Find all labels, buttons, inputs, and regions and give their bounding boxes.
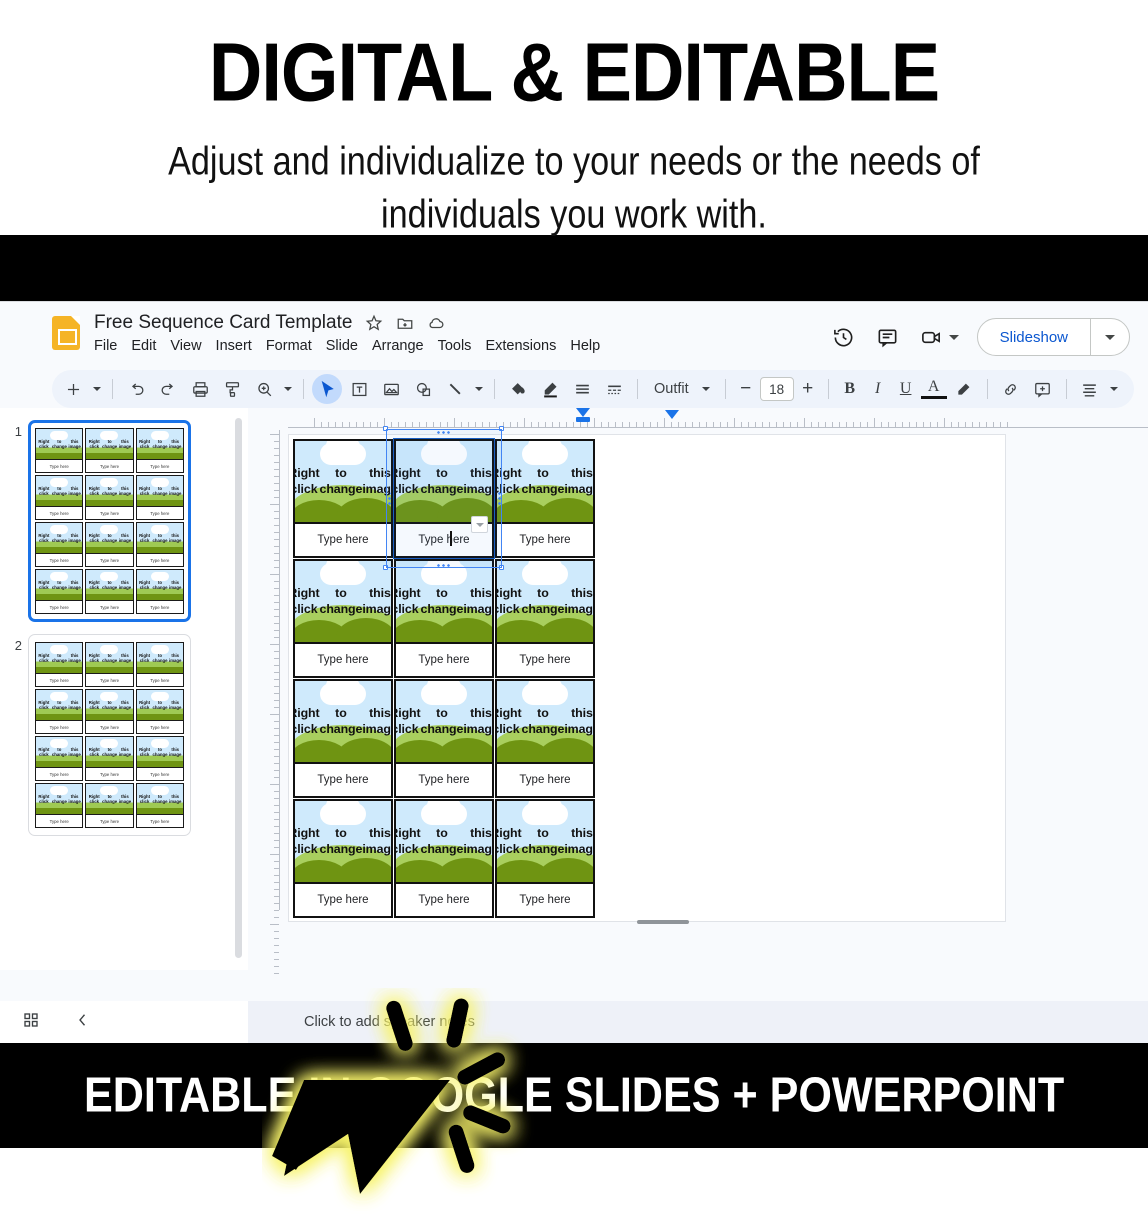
thumbnail-card-image: Right clickto changethis image — [36, 429, 82, 459]
thumbnail-card-text: Right clickto changethis image — [36, 570, 82, 600]
move-to-folder-icon[interactable] — [395, 314, 414, 333]
thumbnail-card: Right clickto changethis imageType here — [136, 642, 184, 687]
selection-handle[interactable] — [383, 426, 388, 431]
thumbnail-card-image: Right clickto changethis image — [86, 737, 132, 767]
card-image-placeholder[interactable]: Right clickto changethis image — [295, 561, 391, 642]
card-image-text: Right clickto changethis image — [295, 561, 391, 642]
thumbnail-card: Right clickto changethis imageType here — [136, 428, 184, 473]
card-image-text: Right clickto changethis image — [396, 681, 492, 762]
thumbnail-card-image: Right clickto changethis image — [36, 737, 82, 767]
thumbnail-card-caption: Type here — [137, 459, 183, 472]
thumbnail-card-caption: Type here — [86, 459, 132, 472]
thumbnail-card-caption: Type here — [137, 673, 183, 686]
italic-button[interactable]: I — [865, 380, 891, 398]
thumbnail-card-text: Right clickto changethis image — [137, 784, 183, 814]
thumbnail-card: Right clickto changethis imageType here — [35, 522, 83, 567]
thumbnail-card-text: Right clickto changethis image — [86, 570, 132, 600]
thumbnail-card-image: Right clickto changethis image — [86, 784, 132, 814]
slideshow-label[interactable]: Slideshow — [978, 329, 1090, 346]
ruler-tick — [734, 418, 735, 427]
promo-title: DIGITAL & EDITABLE — [0, 30, 1148, 115]
thumbnail-card-image: Right clickto changethis image — [36, 784, 82, 814]
card-image-text: Right clickto changethis image — [497, 561, 593, 642]
promo-subtitle-line-1: Adjust and individualize to your needs o… — [86, 135, 1063, 187]
thumbnail-card-caption: Type here — [36, 553, 82, 566]
increase-font-size-button[interactable]: + — [796, 378, 820, 400]
font-size-input[interactable]: 18 — [760, 377, 794, 401]
thumbnail-card-caption: Type here — [86, 814, 132, 827]
thumbnail-card-caption: Type here — [36, 720, 82, 733]
thumbnail-card-image: Right clickto changethis image — [36, 643, 82, 673]
slideshow-button[interactable]: Slideshow — [977, 318, 1130, 356]
card-image-placeholder[interactable]: Right clickto changethis image — [396, 681, 492, 762]
thumbnail-card-text: Right clickto changethis image — [137, 690, 183, 720]
thumbnail-card-text: Right clickto changethis image — [36, 429, 82, 459]
sequence-card[interactable]: Right clickto changethis imageType here — [293, 439, 393, 558]
thumbnail-card: Right clickto changethis imageType here — [35, 736, 83, 781]
thumbnail-card: Right clickto changethis imageType here — [136, 689, 184, 734]
thumbnail-card-image: Right clickto changethis image — [137, 737, 183, 767]
thumbnail-card-image: Right clickto changethis image — [86, 570, 132, 600]
collapse-filmstrip-icon[interactable] — [74, 1011, 92, 1034]
thumbnail-card-text: Right clickto changethis image — [137, 570, 183, 600]
ruler-tick — [274, 938, 279, 939]
thumbnail-card-caption: Type here — [137, 720, 183, 733]
filmstrip-footer — [0, 1001, 248, 1043]
card-image-placeholder[interactable]: Right clickto changethis image — [396, 801, 492, 882]
filmstrip-slide-2[interactable]: 2 Right clickto changethis imageType her… — [8, 634, 248, 836]
slide-thumbnail-1[interactable]: Right clickto changethis imageType hereR… — [28, 420, 191, 622]
app-header: Free Sequence Card Template File Edit Vi… — [0, 302, 1148, 364]
promo-subtitle: Adjust and individualize to your needs o… — [29, 135, 1120, 240]
sequence-card[interactable]: Right clickto changethis imageType here — [293, 799, 393, 918]
card-image-text: Right clickto changethis image — [295, 441, 391, 522]
promo-footer: EDITABLE IN GOOGLE SLIDES + POWERPOINT — [0, 1043, 1148, 1148]
slide-number: 2 — [8, 634, 22, 653]
google-slides-window: Free Sequence Card Template File Edit Vi… — [0, 301, 1148, 1043]
thumbnail-card: Right clickto changethis imageType here — [35, 783, 83, 828]
ruler-tick — [270, 434, 279, 435]
thumbnail-card-image: Right clickto changethis image — [137, 523, 183, 553]
meet-camera-icon[interactable] — [919, 324, 945, 350]
thumbnail-card: Right clickto changethis imageType here — [136, 475, 184, 520]
notes-resize-handle[interactable] — [637, 920, 689, 924]
card-image-text: Right clickto changethis image — [497, 441, 593, 522]
ruler-tick — [270, 854, 279, 855]
thumbnail-card-image: Right clickto changethis image — [137, 643, 183, 673]
thumbnail-card-caption: Type here — [36, 673, 82, 686]
zoom-dropdown-icon[interactable] — [281, 387, 295, 391]
toolbar-divider — [112, 379, 113, 399]
thumbnail-card-caption: Type here — [86, 600, 132, 613]
menu-item-insert[interactable]: Insert — [216, 338, 252, 354]
border-weight-icon[interactable] — [567, 374, 597, 404]
sequence-card[interactable]: Right clickto changethis imageType here — [293, 679, 393, 798]
ruler-tick — [270, 714, 279, 715]
ruler-tick — [274, 945, 279, 946]
thumbnail-card: Right clickto changethis imageType here — [35, 642, 83, 687]
thumbnail-card-text: Right clickto changethis image — [137, 643, 183, 673]
ruler-tick — [594, 418, 595, 427]
star-icon[interactable] — [364, 314, 383, 333]
slide-thumbnail-2[interactable]: Right clickto changethis imageType hereR… — [28, 634, 191, 836]
toolbar-divider — [987, 379, 988, 399]
sequence-card[interactable]: Right clickto changethis imageType here — [394, 439, 494, 558]
toolbar-divider — [303, 379, 304, 399]
thumbnail-card-image: Right clickto changethis image — [36, 523, 82, 553]
thumbnail-card: Right clickto changethis imageType here — [136, 522, 184, 567]
thumbnail-card-image: Right clickto changethis image — [86, 643, 132, 673]
thumbnail-card-text: Right clickto changethis image — [36, 476, 82, 506]
thumbnail-card: Right clickto changethis imageType here — [85, 522, 133, 567]
ruler-tick — [454, 418, 455, 427]
ruler-tick — [274, 931, 279, 932]
ruler-tick — [270, 784, 279, 785]
thumbnail-card-caption: Type here — [137, 814, 183, 827]
thumbnail-card-text: Right clickto changethis image — [36, 523, 82, 553]
thumbnail-card: Right clickto changethis imageType here — [136, 736, 184, 781]
toolbar-divider — [637, 379, 638, 399]
slide-filmstrip[interactable]: 1 Right clickto changethis imageType her… — [0, 408, 248, 970]
card-caption-field[interactable]: Type here — [295, 882, 391, 916]
print-icon[interactable] — [185, 374, 215, 404]
selection-handle[interactable] — [499, 426, 504, 431]
ruler-tick — [804, 418, 805, 427]
thumbnail-card-text: Right clickto changethis image — [86, 523, 132, 553]
thumbnail-card-image: Right clickto changethis image — [137, 476, 183, 506]
ruler-tick — [270, 924, 279, 925]
card-image-placeholder[interactable]: Right clickto changethis image — [497, 801, 593, 882]
thumbnail-card-text: Right clickto changethis image — [86, 690, 132, 720]
thumbnail-card-image: Right clickto changethis image — [86, 429, 132, 459]
comment-history-icon[interactable] — [875, 324, 901, 350]
thumbnail-card-image: Right clickto changethis image — [36, 690, 82, 720]
menu-item-format[interactable]: Format — [266, 338, 312, 354]
thumbnail-card-text: Right clickto changethis image — [36, 784, 82, 814]
thumbnail-card-text: Right clickto changethis image — [137, 737, 183, 767]
card-caption-field[interactable]: Type here — [497, 522, 593, 556]
fill-color-icon[interactable] — [503, 374, 533, 404]
ruler-tick — [274, 959, 279, 960]
thumbnail-card-image: Right clickto changethis image — [137, 690, 183, 720]
line-dropdown-icon[interactable] — [472, 387, 486, 391]
card-image-placeholder[interactable]: Right clickto changethis image — [396, 561, 492, 642]
ruler-tick — [270, 644, 279, 645]
thumbnail-card-text: Right clickto changethis image — [36, 737, 82, 767]
left-indent-marker[interactable] — [665, 410, 679, 419]
insert-image-icon[interactable] — [376, 374, 406, 404]
menu-item-help[interactable]: Help — [570, 338, 600, 354]
toolbar-divider — [725, 379, 726, 399]
toolbar-divider — [494, 379, 495, 399]
card-caption-field[interactable]: Type here — [497, 642, 593, 676]
thumbnail-card-image: Right clickto changethis image — [36, 476, 82, 506]
card-image-placeholder[interactable]: Right clickto changethis image — [295, 441, 391, 522]
filmstrip-slide-1[interactable]: 1 Right clickto changethis imageType her… — [8, 420, 248, 622]
align-icon[interactable] — [1075, 374, 1105, 404]
font-family-select[interactable]: Outfit — [646, 381, 697, 397]
indent-bar[interactable] — [576, 417, 590, 422]
thumbnail-card-text: Right clickto changethis image — [86, 429, 132, 459]
border-dash-icon[interactable] — [599, 374, 629, 404]
card-image-placeholder[interactable]: Right clickto changethis image — [295, 801, 391, 882]
slideshow-dropdown-button[interactable] — [1091, 335, 1129, 340]
thumbnail-card: Right clickto changethis imageType here — [85, 475, 133, 520]
thumbnail-card-image: Right clickto changethis image — [137, 784, 183, 814]
menu-item-edit[interactable]: Edit — [131, 338, 156, 354]
card-caption-field[interactable]: Type here — [396, 762, 492, 796]
thumbnail-card-caption: Type here — [36, 459, 82, 472]
cloud-saved-icon[interactable] — [426, 314, 445, 333]
menu-item-slide[interactable]: Slide — [326, 338, 358, 354]
promo-subtitle-line-2: individuals you work with. — [86, 188, 1063, 240]
line-icon[interactable] — [440, 374, 470, 404]
thumbnail-card-text: Right clickto changethis image — [137, 429, 183, 459]
thumbnail-card-image: Right clickto changethis image — [137, 570, 183, 600]
thumbnail-card-caption: Type here — [36, 814, 82, 827]
new-slide-dropdown-icon[interactable] — [90, 387, 104, 391]
thumbnail-card: Right clickto changethis imageType here — [85, 736, 133, 781]
thumbnail-card: Right clickto changethis imageType here — [136, 569, 184, 614]
thumbnail-card-grid: Right clickto changethis imageType hereR… — [35, 428, 184, 614]
card-image-placeholder[interactable]: Right clickto changethis image — [396, 441, 492, 522]
divider-band-top — [0, 235, 1148, 301]
select-cursor-icon[interactable] — [312, 374, 342, 404]
thumbnail-card: Right clickto changethis imageType here — [85, 642, 133, 687]
redo-icon[interactable] — [153, 374, 183, 404]
thumbnail-card-caption: Type here — [86, 720, 132, 733]
ruler-tick — [274, 917, 279, 918]
card-caption-field[interactable]: Type here — [497, 882, 593, 916]
ruler-tick — [274, 952, 279, 953]
sequence-card[interactable]: Right clickto changethis imageType here — [394, 559, 494, 678]
ruler-tick — [944, 418, 945, 427]
ruler-tick — [874, 418, 875, 427]
first-line-indent-marker[interactable] — [576, 408, 590, 417]
thumbnail-card-text: Right clickto changethis image — [137, 476, 183, 506]
app-body: 1 Right clickto changethis imageType her… — [0, 408, 1148, 970]
ruler-tick — [274, 966, 279, 967]
thumbnail-card-caption: Type here — [137, 767, 183, 780]
menu-item-arrange[interactable]: Arrange — [372, 338, 424, 354]
thumbnail-card: Right clickto changethis imageType here — [85, 428, 133, 473]
zoom-icon[interactable] — [249, 374, 279, 404]
thumbnail-card-image: Right clickto changethis image — [137, 429, 183, 459]
thumbnail-card-caption: Type here — [137, 600, 183, 613]
thumbnail-card-caption: Type here — [86, 506, 132, 519]
decrease-font-size-button[interactable]: − — [734, 378, 758, 400]
thumbnail-card: Right clickto changethis imageType here — [35, 569, 83, 614]
thumbnail-card: Right clickto changethis imageType here — [85, 783, 133, 828]
slide-editor-area: Right clickto changethis imageType hereR… — [248, 408, 1148, 970]
sequence-card[interactable]: Right clickto changethis imageType here — [495, 799, 595, 918]
thumbnail-card-caption: Type here — [137, 553, 183, 566]
grid-view-icon[interactable] — [22, 1011, 40, 1034]
filmstrip-scrollbar[interactable] — [235, 418, 242, 958]
card-caption-field[interactable]: Type here — [497, 762, 593, 796]
ruler-tick — [270, 574, 279, 575]
menu-bar: File Edit View Insert Format Slide Arran… — [94, 338, 600, 354]
card-options-dropdown-icon[interactable] — [471, 516, 488, 533]
sequence-card[interactable]: Right clickto changethis imageType here — [293, 559, 393, 678]
thumbnail-card-text: Right clickto changethis image — [137, 523, 183, 553]
card-image-placeholder[interactable]: Right clickto changethis image — [497, 441, 593, 522]
highlight-pen-icon[interactable] — [949, 374, 979, 404]
ruler-tick — [274, 973, 279, 974]
sequence-card[interactable]: Right clickto changethis imageType here — [495, 439, 595, 558]
text-cursor — [450, 531, 452, 546]
thumbnail-card-text: Right clickto changethis image — [36, 643, 82, 673]
ruler-tick — [314, 418, 315, 427]
sequence-card[interactable]: Right clickto changethis imageType here — [495, 559, 595, 678]
thumbnail-card-caption: Type here — [36, 506, 82, 519]
thumbnail-card-text: Right clickto changethis image — [86, 476, 132, 506]
speaker-notes-placeholder[interactable]: Click to add speaker notes — [304, 1014, 475, 1030]
document-title[interactable]: Free Sequence Card Template — [94, 312, 352, 334]
new-slide-icon[interactable] — [58, 374, 88, 404]
thumbnail-card: Right clickto changethis imageType here — [35, 475, 83, 520]
bold-button[interactable]: B — [837, 380, 863, 398]
thumbnail-card-text: Right clickto changethis image — [86, 784, 132, 814]
text-color-button[interactable]: A — [921, 379, 947, 399]
thumbnail-card-caption: Type here — [36, 767, 82, 780]
card-image-text: Right clickto changethis image — [295, 681, 391, 762]
thumbnail-card-image: Right clickto changethis image — [36, 570, 82, 600]
toolbar: Outfit − 18 + B I U A — [52, 370, 1134, 408]
google-slides-logo-icon — [52, 316, 80, 350]
card-image-placeholder[interactable]: Right clickto changethis image — [295, 681, 391, 762]
underline-button[interactable]: U — [893, 380, 919, 398]
meet-camera-button[interactable] — [919, 324, 959, 350]
add-comment-icon[interactable] — [1028, 374, 1058, 404]
card-caption-field[interactable]: Type here — [295, 762, 391, 796]
thumbnail-card-image: Right clickto changethis image — [86, 690, 132, 720]
card-caption-field[interactable]: Type here — [396, 882, 492, 916]
ruler-tick — [524, 418, 525, 427]
thumbnail-card: Right clickto changethis imageType here — [136, 783, 184, 828]
thumbnail-card-image: Right clickto changethis image — [86, 523, 132, 553]
align-dropdown-icon[interactable] — [1107, 387, 1121, 391]
chevron-down-icon[interactable] — [949, 335, 959, 340]
speaker-notes-area[interactable]: Click to add speaker notes — [248, 1001, 1148, 1043]
thumbnail-card-caption: Type here — [86, 553, 132, 566]
menu-item-file[interactable]: File — [94, 338, 117, 354]
slide-canvas[interactable]: Right clickto changethis imageType hereR… — [288, 434, 1006, 922]
thumbnail-card: Right clickto changethis imageType here — [85, 689, 133, 734]
thumbnail-card-image: Right clickto changethis image — [86, 476, 132, 506]
ruler-baseline — [288, 427, 1148, 428]
card-caption-field[interactable]: Type here — [295, 522, 391, 556]
undo-icon[interactable] — [121, 374, 151, 404]
slide-number: 1 — [8, 420, 22, 439]
sequence-card[interactable]: Right clickto changethis imageType here — [394, 799, 494, 918]
ruler-baseline — [279, 430, 280, 910]
vertical-ruler[interactable] — [260, 430, 282, 910]
sequence-card[interactable]: Right clickto changethis imageType here — [394, 679, 494, 798]
card-image-placeholder[interactable]: Right clickto changethis image — [497, 561, 593, 642]
card-grid: Right clickto changethis imageType hereR… — [293, 439, 595, 918]
paint-format-icon[interactable] — [217, 374, 247, 404]
toolbar-divider — [1066, 379, 1067, 399]
thumbnail-card: Right clickto changethis imageType here — [35, 428, 83, 473]
thumbnail-card-text: Right clickto changethis image — [86, 643, 132, 673]
horizontal-ruler[interactable] — [288, 408, 1148, 430]
promo-footer-text: EDITABLE IN GOOGLE SLIDES + POWERPOINT — [84, 1068, 1064, 1124]
shape-icon[interactable] — [408, 374, 438, 404]
card-image-text: Right clickto changethis image — [497, 801, 593, 882]
thumbnail-card-caption: Type here — [36, 600, 82, 613]
card-image-text: Right clickto changethis image — [396, 801, 492, 882]
card-caption-field[interactable]: Type here — [295, 642, 391, 676]
thumbnail-card-caption: Type here — [86, 673, 132, 686]
selection-top-handle[interactable] — [436, 430, 452, 434]
sequence-card[interactable]: Right clickto changethis imageType here — [495, 679, 595, 798]
font-family-dropdown-icon[interactable] — [699, 387, 713, 391]
chevron-down-icon[interactable] — [1105, 335, 1115, 340]
thumbnail-card-text: Right clickto changethis image — [86, 737, 132, 767]
card-image-placeholder[interactable]: Right clickto changethis image — [497, 681, 593, 762]
card-image-text: Right clickto changethis image — [497, 681, 593, 762]
thumbnail-card: Right clickto changethis imageType here — [85, 569, 133, 614]
card-image-text: Right clickto changethis image — [396, 441, 492, 522]
thumbnail-card: Right clickto changethis imageType here — [35, 689, 83, 734]
thumbnail-card-caption: Type here — [86, 767, 132, 780]
thumbnail-card-grid: Right clickto changethis imageType hereR… — [35, 642, 184, 828]
menu-item-tools[interactable]: Tools — [438, 338, 472, 354]
text-box-icon[interactable] — [344, 374, 374, 404]
version-history-icon[interactable] — [831, 324, 857, 350]
ruler-tick — [270, 504, 279, 505]
insert-link-icon[interactable] — [996, 374, 1026, 404]
border-color-icon[interactable] — [535, 374, 565, 404]
thumbnail-card-caption: Type here — [137, 506, 183, 519]
card-image-text: Right clickto changethis image — [295, 801, 391, 882]
menu-item-view[interactable]: View — [170, 338, 201, 354]
ruler-tick — [274, 910, 279, 911]
card-image-text: Right clickto changethis image — [396, 561, 492, 642]
menu-item-extensions[interactable]: Extensions — [485, 338, 556, 354]
card-caption-field[interactable]: Type here — [396, 642, 492, 676]
toolbar-divider — [828, 379, 829, 399]
ruler-tick — [664, 418, 665, 427]
promo-header: DIGITAL & EDITABLE Adjust and individual… — [0, 0, 1148, 235]
thumbnail-card-text: Right clickto changethis image — [36, 690, 82, 720]
